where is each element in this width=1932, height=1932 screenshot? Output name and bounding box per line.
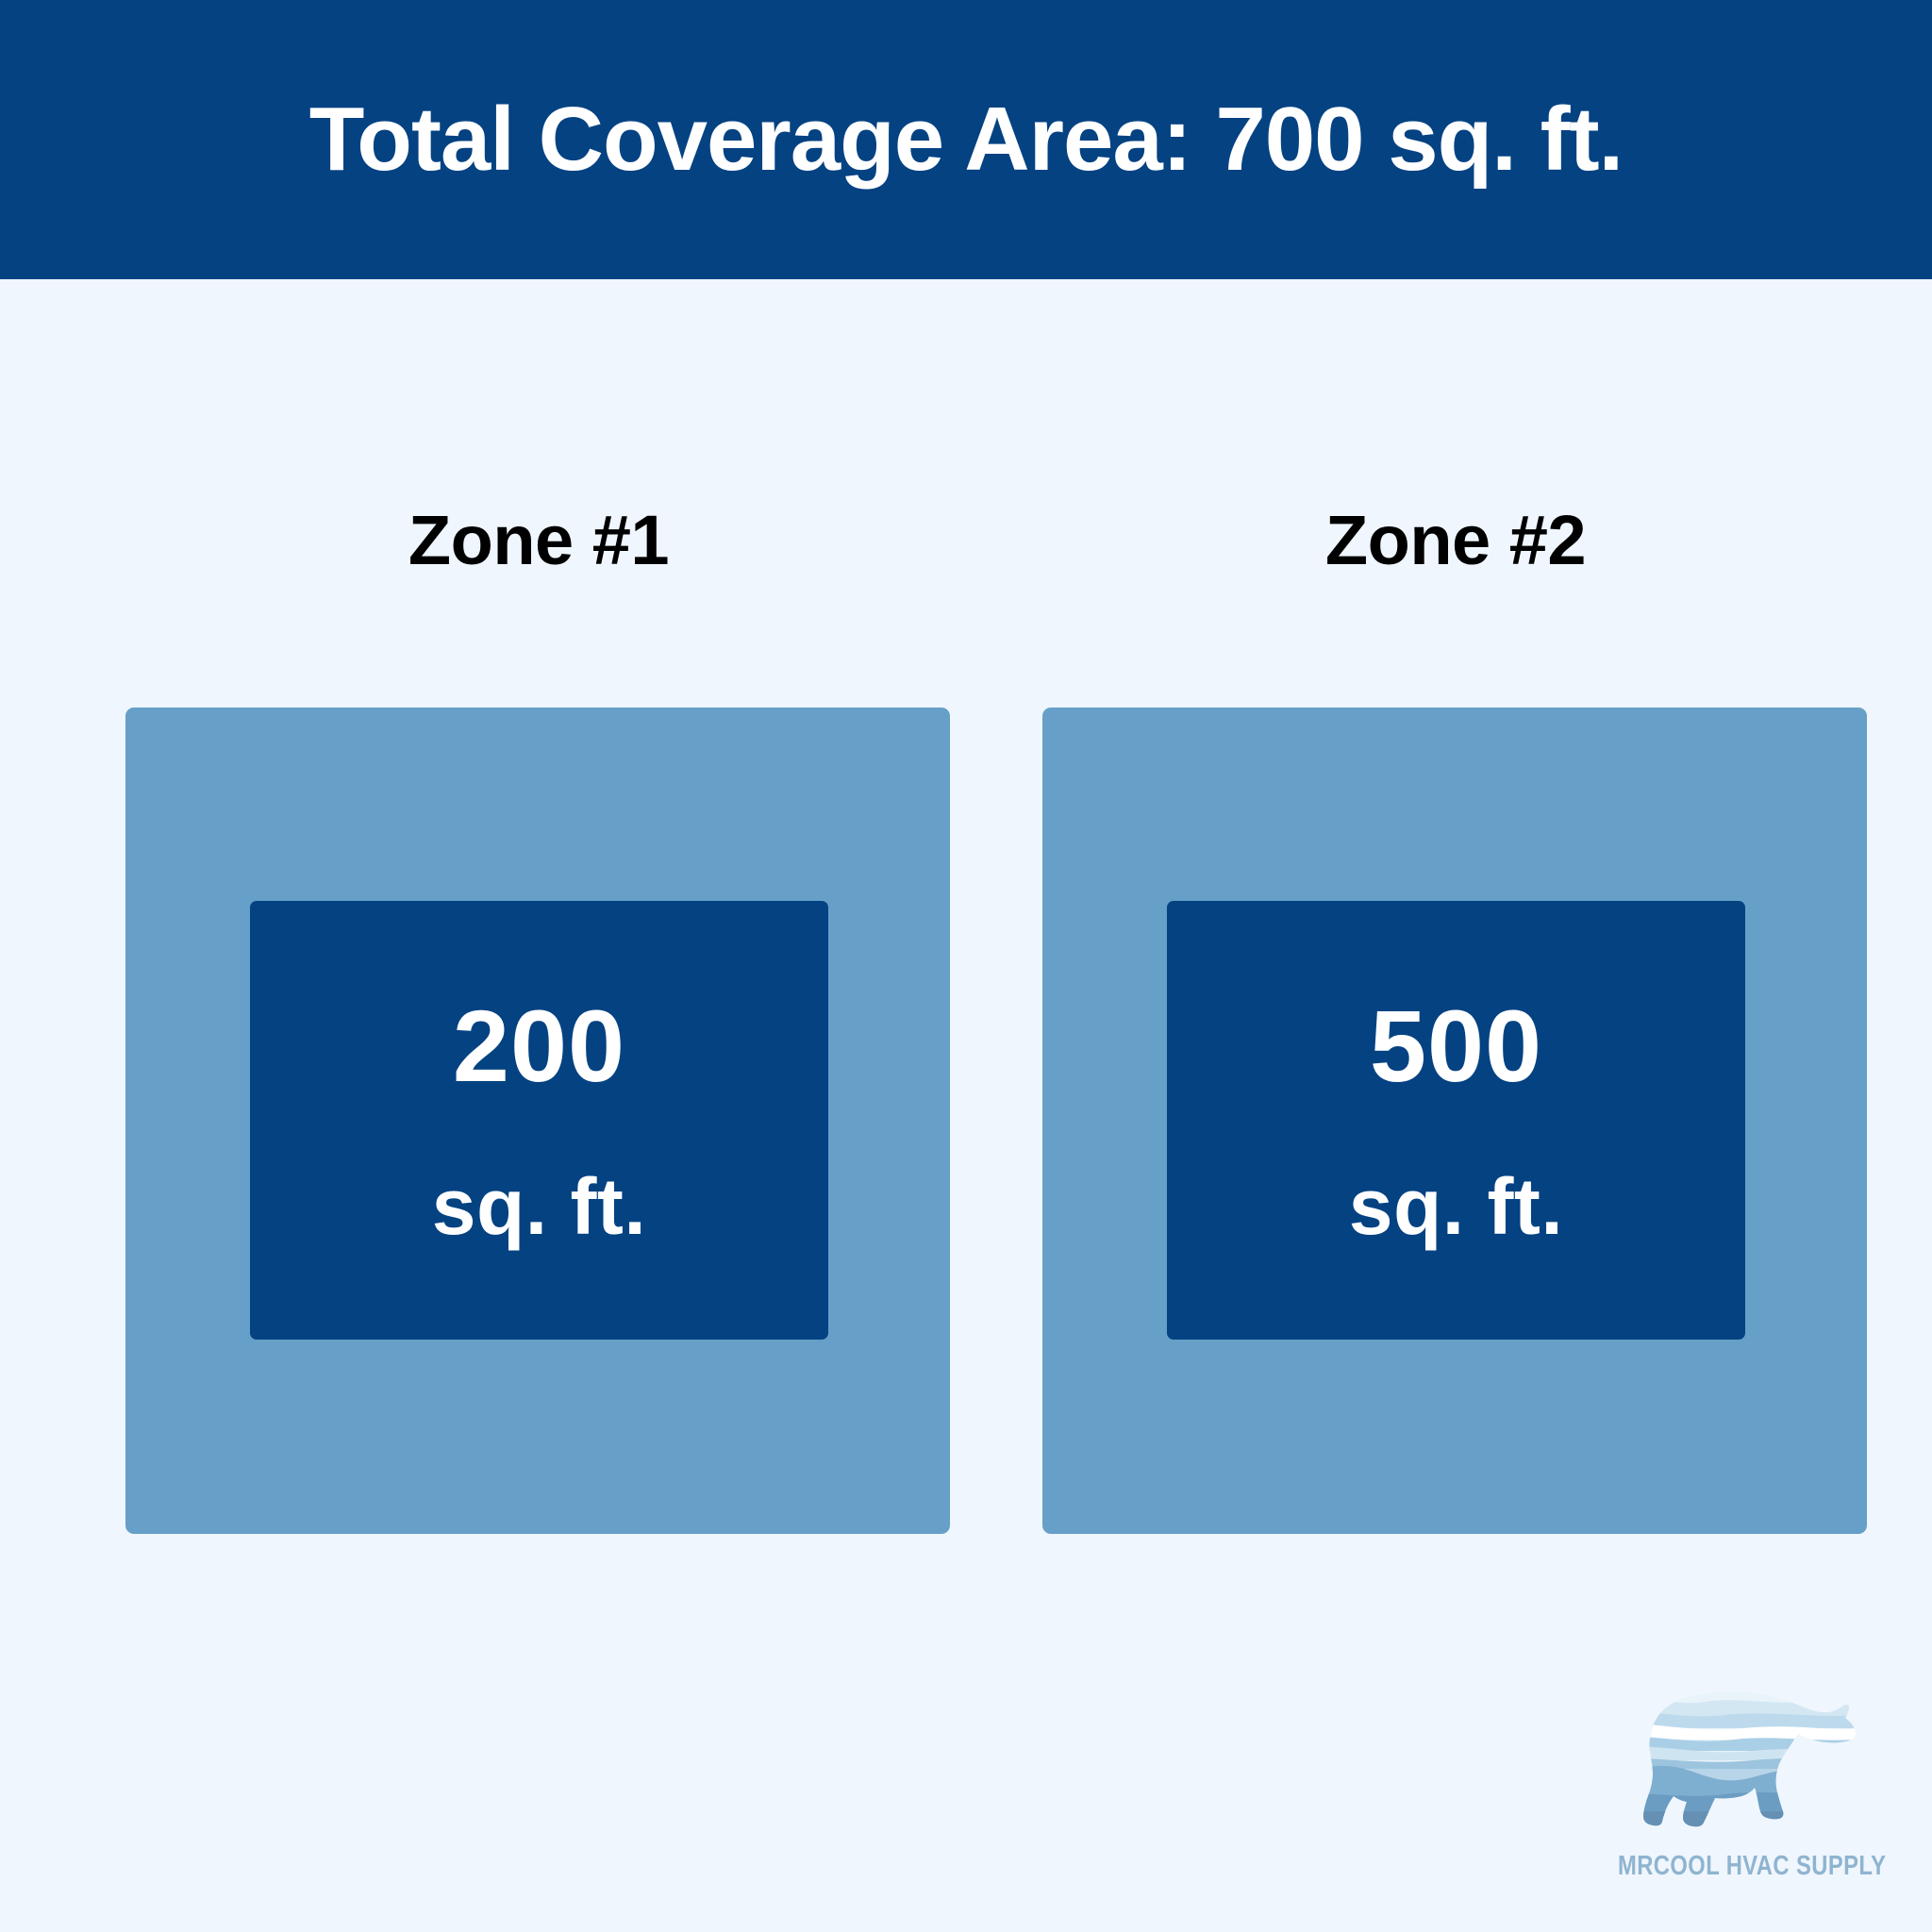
zone-unit-1: sq. ft.: [432, 1167, 647, 1246]
zone-outer-area-2: 500 sq. ft.: [1042, 708, 1867, 1534]
zone-label-2: Zone #2: [1042, 506, 1869, 575]
page-title: Total Coverage Area: 700 sq. ft.: [309, 94, 1623, 185]
zone-inner-area-2: 500 sq. ft.: [1167, 901, 1745, 1340]
zone-label-1: Zone #1: [125, 506, 952, 575]
zone-unit-2: sq. ft.: [1349, 1167, 1564, 1246]
zone-value-2: 500: [1370, 995, 1542, 1097]
zone-inner-area-1: 200 sq. ft.: [250, 901, 828, 1340]
logo-wordmark: MRCOOL HVAC SUPPLY: [1618, 1851, 1850, 1882]
zone-value-1: 200: [453, 995, 625, 1097]
brand-logo: MRCOOL HVAC SUPPLY: [1592, 1679, 1885, 1904]
polar-bear-icon: [1592, 1679, 1875, 1847]
header-band: Total Coverage Area: 700 sq. ft.: [0, 0, 1932, 279]
zone-outer-area-1: 200 sq. ft.: [125, 708, 950, 1534]
